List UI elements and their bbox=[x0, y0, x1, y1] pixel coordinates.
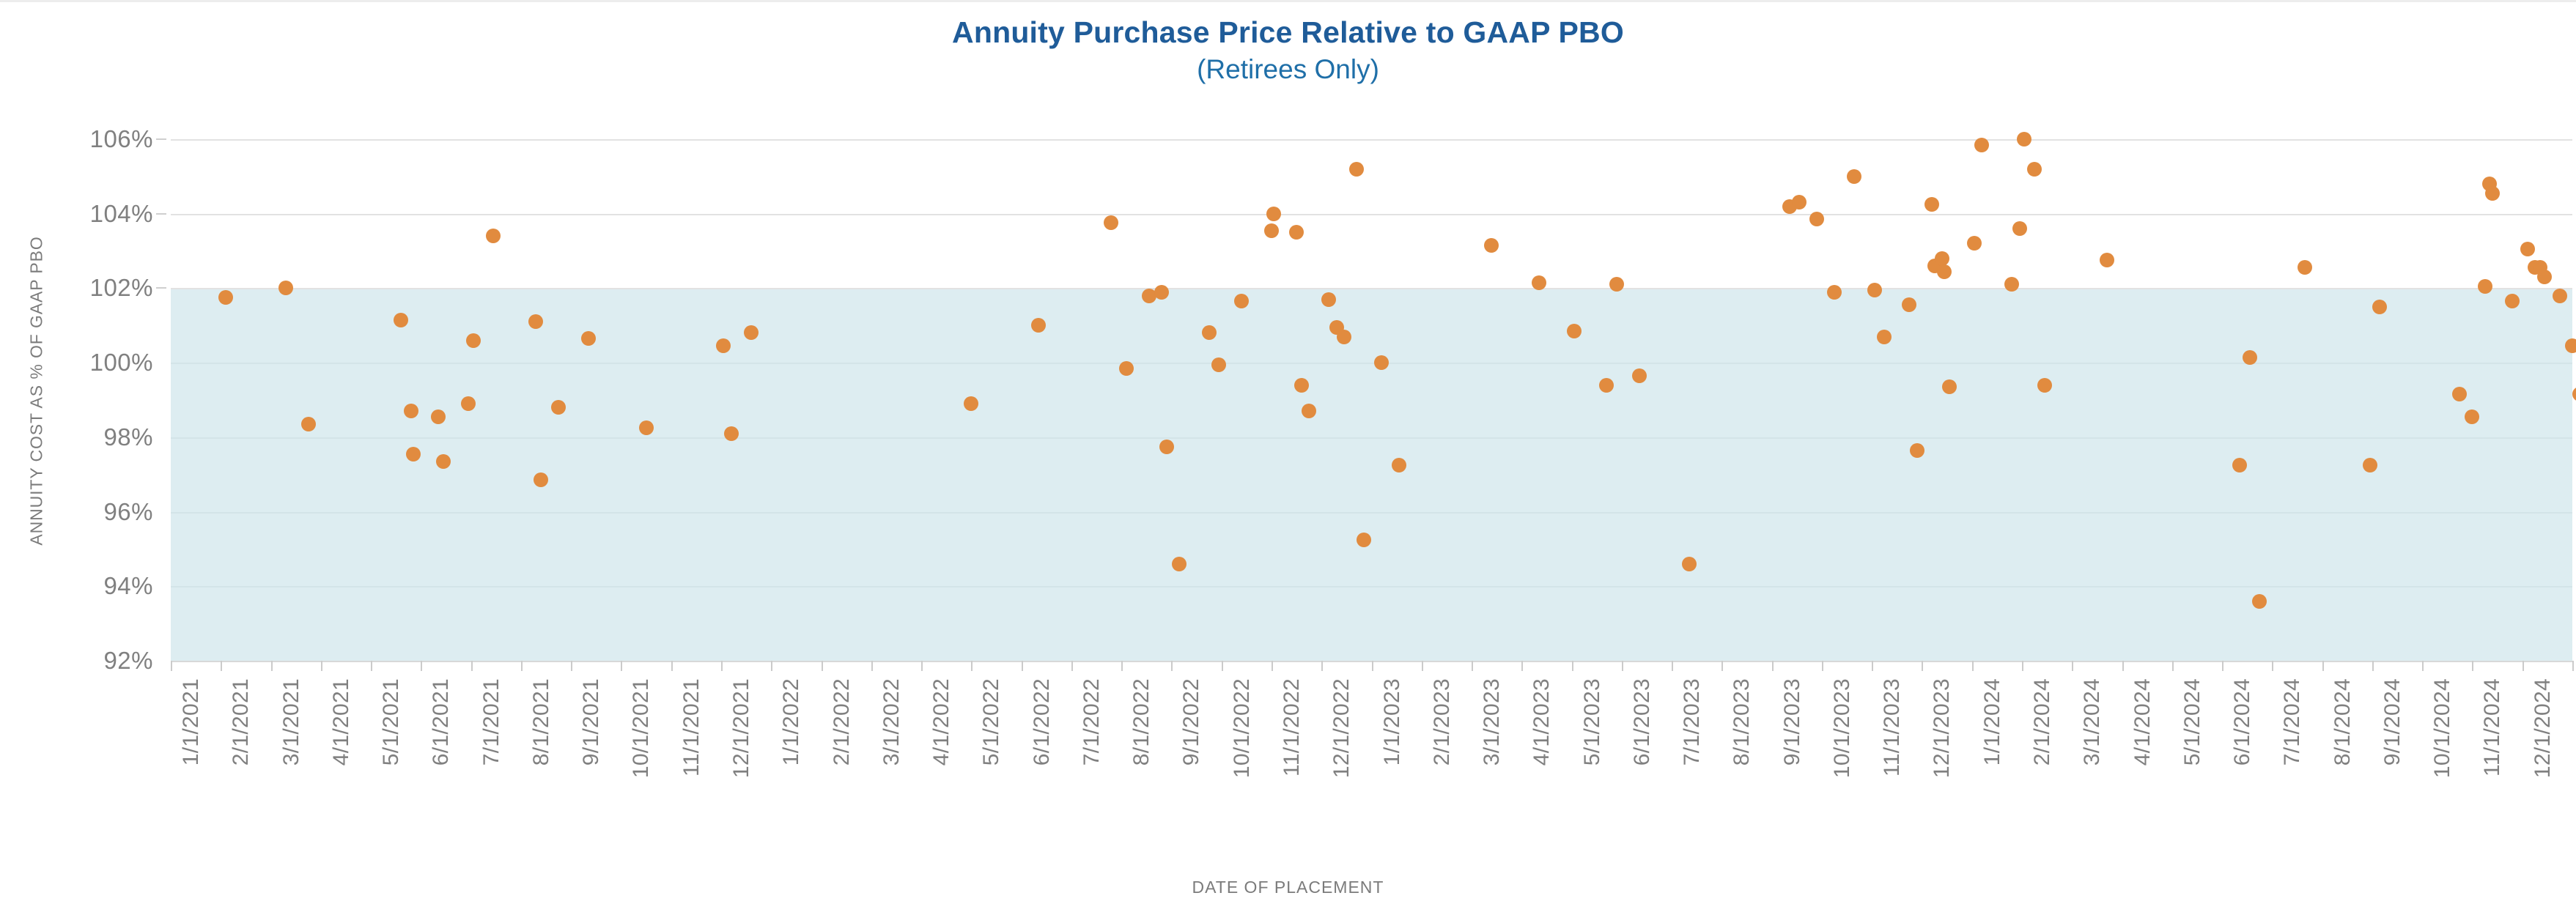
data-point[interactable] bbox=[1809, 212, 1824, 226]
data-point[interactable] bbox=[2017, 132, 2031, 147]
x-tick-mark bbox=[1521, 661, 1523, 671]
x-tick-mark bbox=[221, 661, 222, 671]
x-tick-label: 11/1/2021 bbox=[679, 678, 704, 776]
data-point[interactable] bbox=[2572, 387, 2576, 401]
x-tick-label: 10/1/2024 bbox=[2430, 678, 2455, 778]
x-tick-label: 4/1/2021 bbox=[329, 678, 354, 765]
x-tick-label: 3/1/2024 bbox=[2080, 678, 2105, 765]
x-tick-mark bbox=[2222, 661, 2223, 671]
data-point[interactable] bbox=[1289, 225, 1304, 240]
x-tick-mark bbox=[271, 661, 273, 671]
x-tick-label: 10/1/2023 bbox=[1830, 678, 1855, 778]
x-tick-mark bbox=[2372, 661, 2374, 671]
x-tick-label: 5/1/2022 bbox=[979, 678, 1004, 765]
x-tick-label: 1/1/2024 bbox=[1980, 678, 2005, 765]
x-tick-label: 7/1/2023 bbox=[1680, 678, 1705, 765]
data-point[interactable] bbox=[1357, 533, 1371, 547]
x-tick-mark bbox=[2572, 661, 2574, 671]
x-tick-mark bbox=[1672, 661, 1673, 671]
gridline-102 bbox=[171, 288, 2572, 289]
x-tick-label: 3/1/2022 bbox=[879, 678, 904, 765]
x-tick-label: 7/1/2021 bbox=[479, 678, 504, 765]
data-point[interactable] bbox=[1935, 251, 1949, 266]
x-tick-label: 12/1/2023 bbox=[1930, 678, 1955, 778]
data-point[interactable] bbox=[436, 454, 451, 469]
data-point[interactable] bbox=[301, 417, 316, 431]
data-point[interactable] bbox=[581, 331, 596, 346]
data-point[interactable] bbox=[2363, 458, 2377, 472]
x-tick-label: 5/1/2023 bbox=[1580, 678, 1605, 765]
y-tick-mark bbox=[156, 138, 166, 140]
gridline-106 bbox=[171, 139, 2572, 141]
x-tick-label: 9/1/2022 bbox=[1179, 678, 1204, 765]
x-tick-mark bbox=[421, 661, 422, 671]
x-tick-label: 2/1/2021 bbox=[229, 678, 254, 765]
x-tick-label: 1/1/2021 bbox=[179, 678, 204, 765]
x-tick-label: 2/1/2023 bbox=[1430, 678, 1455, 765]
x-tick-mark bbox=[1372, 661, 1373, 671]
x-tick-mark bbox=[2523, 661, 2524, 671]
data-point[interactable] bbox=[2537, 270, 2552, 284]
x-tick-label: 6/1/2022 bbox=[1030, 678, 1055, 765]
x-tick-label: 6/1/2023 bbox=[1630, 678, 1655, 765]
x-tick-label: 5/1/2024 bbox=[2180, 678, 2205, 765]
x-tick-mark bbox=[1721, 661, 1723, 671]
data-point[interactable] bbox=[1159, 440, 1174, 454]
x-tick-mark bbox=[1121, 661, 1123, 671]
y-tick-label: 100% bbox=[90, 349, 153, 377]
x-tick-label: 8/1/2021 bbox=[529, 678, 554, 765]
x-tick-mark bbox=[1972, 661, 1974, 671]
x-tick-label: 4/1/2022 bbox=[929, 678, 954, 765]
x-tick-mark bbox=[1772, 661, 1774, 671]
x-tick-mark bbox=[2422, 661, 2424, 671]
data-point[interactable] bbox=[2012, 221, 2027, 236]
data-point[interactable] bbox=[1264, 223, 1279, 238]
x-tick-mark bbox=[1822, 661, 1823, 671]
x-tick-mark bbox=[1622, 661, 1623, 671]
data-point[interactable] bbox=[1119, 361, 1134, 376]
data-point[interactable] bbox=[466, 333, 481, 348]
x-tick-label: 11/1/2023 bbox=[1880, 678, 1905, 776]
gridline-104 bbox=[171, 214, 2572, 215]
top-divider bbox=[0, 0, 2576, 2]
x-tick-mark bbox=[2172, 661, 2174, 671]
x-tick-mark bbox=[2072, 661, 2073, 671]
x-tick-mark bbox=[771, 661, 772, 671]
x-tick-label: 9/1/2023 bbox=[1780, 678, 1805, 765]
x-tick-label: 9/1/2024 bbox=[2380, 678, 2405, 765]
page-title: Annuity Purchase Price Relative to GAAP … bbox=[0, 16, 2576, 50]
x-tick-mark bbox=[1022, 661, 1023, 671]
y-tick-mark bbox=[156, 213, 166, 215]
data-point[interactable] bbox=[1967, 236, 1982, 251]
data-point[interactable] bbox=[2520, 242, 2535, 256]
y-tick-label: 102% bbox=[90, 274, 153, 302]
data-point[interactable] bbox=[486, 229, 501, 243]
data-point[interactable] bbox=[1202, 325, 1217, 340]
x-tick-label: 2/1/2024 bbox=[2030, 678, 2055, 765]
data-point[interactable] bbox=[2553, 289, 2567, 303]
x-tick-label: 11/1/2022 bbox=[1280, 678, 1304, 776]
x-tick-mark bbox=[471, 661, 473, 671]
data-point[interactable] bbox=[2485, 186, 2500, 201]
data-point[interactable] bbox=[404, 404, 418, 418]
data-point[interactable] bbox=[2298, 260, 2312, 275]
x-tick-label: 10/1/2022 bbox=[1230, 678, 1255, 778]
data-point[interactable] bbox=[1682, 557, 1697, 571]
y-tick-label: 98% bbox=[103, 423, 153, 451]
data-point[interactable] bbox=[394, 313, 408, 327]
data-point[interactable] bbox=[2232, 458, 2247, 472]
x-tick-label: 4/1/2023 bbox=[1529, 678, 1554, 765]
data-point[interactable] bbox=[2372, 300, 2387, 314]
data-point[interactable] bbox=[1847, 169, 1861, 184]
x-tick-mark bbox=[2022, 661, 2023, 671]
data-point[interactable] bbox=[1877, 330, 1892, 344]
x-tick-mark bbox=[1922, 661, 1923, 671]
x-tick-mark bbox=[171, 661, 172, 671]
x-tick-label: 3/1/2023 bbox=[1480, 678, 1505, 765]
x-tick-label: 8/1/2024 bbox=[2330, 678, 2355, 765]
x-tick-mark bbox=[2472, 661, 2473, 671]
x-tick-mark bbox=[2272, 661, 2273, 671]
x-tick-label: 8/1/2022 bbox=[1129, 678, 1154, 765]
data-point[interactable] bbox=[2478, 279, 2492, 294]
x-tick-label: 4/1/2024 bbox=[2130, 678, 2155, 765]
x-tick-mark bbox=[571, 661, 572, 671]
x-tick-mark bbox=[621, 661, 622, 671]
data-point[interactable] bbox=[724, 426, 739, 441]
data-point[interactable] bbox=[1910, 443, 1924, 458]
gridline-98 bbox=[171, 437, 2572, 439]
x-tick-label: 12/1/2021 bbox=[729, 678, 754, 778]
plot-area bbox=[171, 139, 2572, 661]
data-point[interactable] bbox=[2100, 253, 2114, 267]
data-point[interactable] bbox=[1599, 378, 1614, 393]
y-tick-label: 106% bbox=[90, 125, 153, 153]
data-point[interactable] bbox=[2565, 338, 2576, 353]
chart-header: Annuity Purchase Price Relative to GAAP … bbox=[0, 16, 2576, 86]
x-tick-label: 12/1/2022 bbox=[1329, 678, 1354, 778]
x-tick-label: 6/1/2021 bbox=[429, 678, 454, 765]
y-tick-label: 104% bbox=[90, 200, 153, 228]
x-tick-mark bbox=[2322, 661, 2324, 671]
data-point[interactable] bbox=[1104, 215, 1118, 230]
x-tick-mark bbox=[1422, 661, 1423, 671]
x-tick-mark bbox=[1321, 661, 1323, 671]
y-tick-label: 94% bbox=[103, 572, 153, 600]
y-axis: 106%104%102%100%98%96%94%92% bbox=[0, 139, 171, 661]
x-tick-mark bbox=[1071, 661, 1073, 671]
gridline-94 bbox=[171, 586, 2572, 587]
data-point[interactable] bbox=[1974, 138, 1989, 152]
x-tick-mark bbox=[2122, 661, 2124, 671]
x-tick-label: 1/1/2022 bbox=[779, 678, 804, 765]
data-point[interactable] bbox=[1337, 330, 1351, 344]
data-point[interactable] bbox=[431, 409, 446, 424]
data-point[interactable] bbox=[1532, 275, 1546, 290]
data-point[interactable] bbox=[2252, 594, 2267, 609]
x-tick-mark bbox=[1572, 661, 1573, 671]
x-tick-label: 7/1/2024 bbox=[2280, 678, 2305, 765]
data-point[interactable] bbox=[1484, 238, 1499, 253]
x-tick-mark bbox=[1222, 661, 1223, 671]
x-tick-label: 5/1/2021 bbox=[379, 678, 404, 765]
data-point[interactable] bbox=[2243, 350, 2257, 365]
x-tick-mark bbox=[822, 661, 823, 671]
data-point[interactable] bbox=[1154, 285, 1169, 300]
x-tick-label: 3/1/2021 bbox=[279, 678, 304, 765]
data-point[interactable] bbox=[2037, 378, 2052, 393]
data-point[interactable] bbox=[1792, 195, 1806, 210]
data-point[interactable] bbox=[1172, 557, 1186, 571]
x-tick-mark bbox=[321, 661, 322, 671]
x-tick-label: 9/1/2021 bbox=[579, 678, 604, 765]
chart-subtitle: (Retirees Only) bbox=[0, 53, 2576, 86]
data-point[interactable] bbox=[1924, 197, 1939, 212]
data-point[interactable] bbox=[639, 420, 654, 435]
data-point[interactable] bbox=[2027, 162, 2042, 177]
data-point[interactable] bbox=[1827, 285, 1842, 300]
y-tick-label: 96% bbox=[103, 498, 153, 526]
data-point[interactable] bbox=[1937, 264, 1952, 279]
x-axis-title: DATE OF PLACEMENT bbox=[0, 878, 2576, 897]
x-tick-label: 11/1/2024 bbox=[2480, 678, 2505, 776]
data-point[interactable] bbox=[406, 447, 421, 461]
y-axis-title: ANNUITY COST AS % OF GAAP PBO bbox=[27, 135, 47, 648]
data-point[interactable] bbox=[1294, 378, 1309, 393]
x-tick-mark bbox=[1872, 661, 1873, 671]
x-tick-label: 7/1/2022 bbox=[1080, 678, 1104, 765]
below-par-shaded-band bbox=[171, 288, 2572, 661]
x-tick-mark bbox=[921, 661, 923, 671]
x-tick-label: 2/1/2022 bbox=[830, 678, 855, 765]
data-point[interactable] bbox=[1867, 283, 1882, 297]
x-tick-label: 10/1/2021 bbox=[629, 678, 654, 778]
data-point[interactable] bbox=[1567, 324, 1582, 338]
data-point[interactable] bbox=[1266, 207, 1281, 221]
x-tick-mark bbox=[1472, 661, 1473, 671]
x-tick-mark bbox=[871, 661, 873, 671]
x-tick-mark bbox=[1272, 661, 1273, 671]
x-tick-label: 6/1/2024 bbox=[2230, 678, 2255, 765]
y-tick-mark bbox=[156, 287, 166, 289]
x-tick-mark bbox=[971, 661, 973, 671]
data-point[interactable] bbox=[1349, 162, 1364, 177]
x-tick-mark bbox=[1171, 661, 1173, 671]
data-point[interactable] bbox=[1211, 357, 1226, 372]
data-point[interactable] bbox=[1392, 458, 1406, 472]
gridline-96 bbox=[171, 512, 2572, 514]
x-tick-label: 12/1/2024 bbox=[2531, 678, 2555, 778]
gridline-100 bbox=[171, 363, 2572, 364]
x-tick-mark bbox=[371, 661, 372, 671]
x-tick-mark bbox=[671, 661, 673, 671]
x-tick-mark bbox=[721, 661, 723, 671]
data-point[interactable] bbox=[1632, 368, 1647, 383]
x-tick-label: 1/1/2023 bbox=[1380, 678, 1405, 765]
y-tick-label: 92% bbox=[103, 647, 153, 675]
x-tick-label: 8/1/2023 bbox=[1730, 678, 1754, 765]
x-tick-mark bbox=[521, 661, 523, 671]
